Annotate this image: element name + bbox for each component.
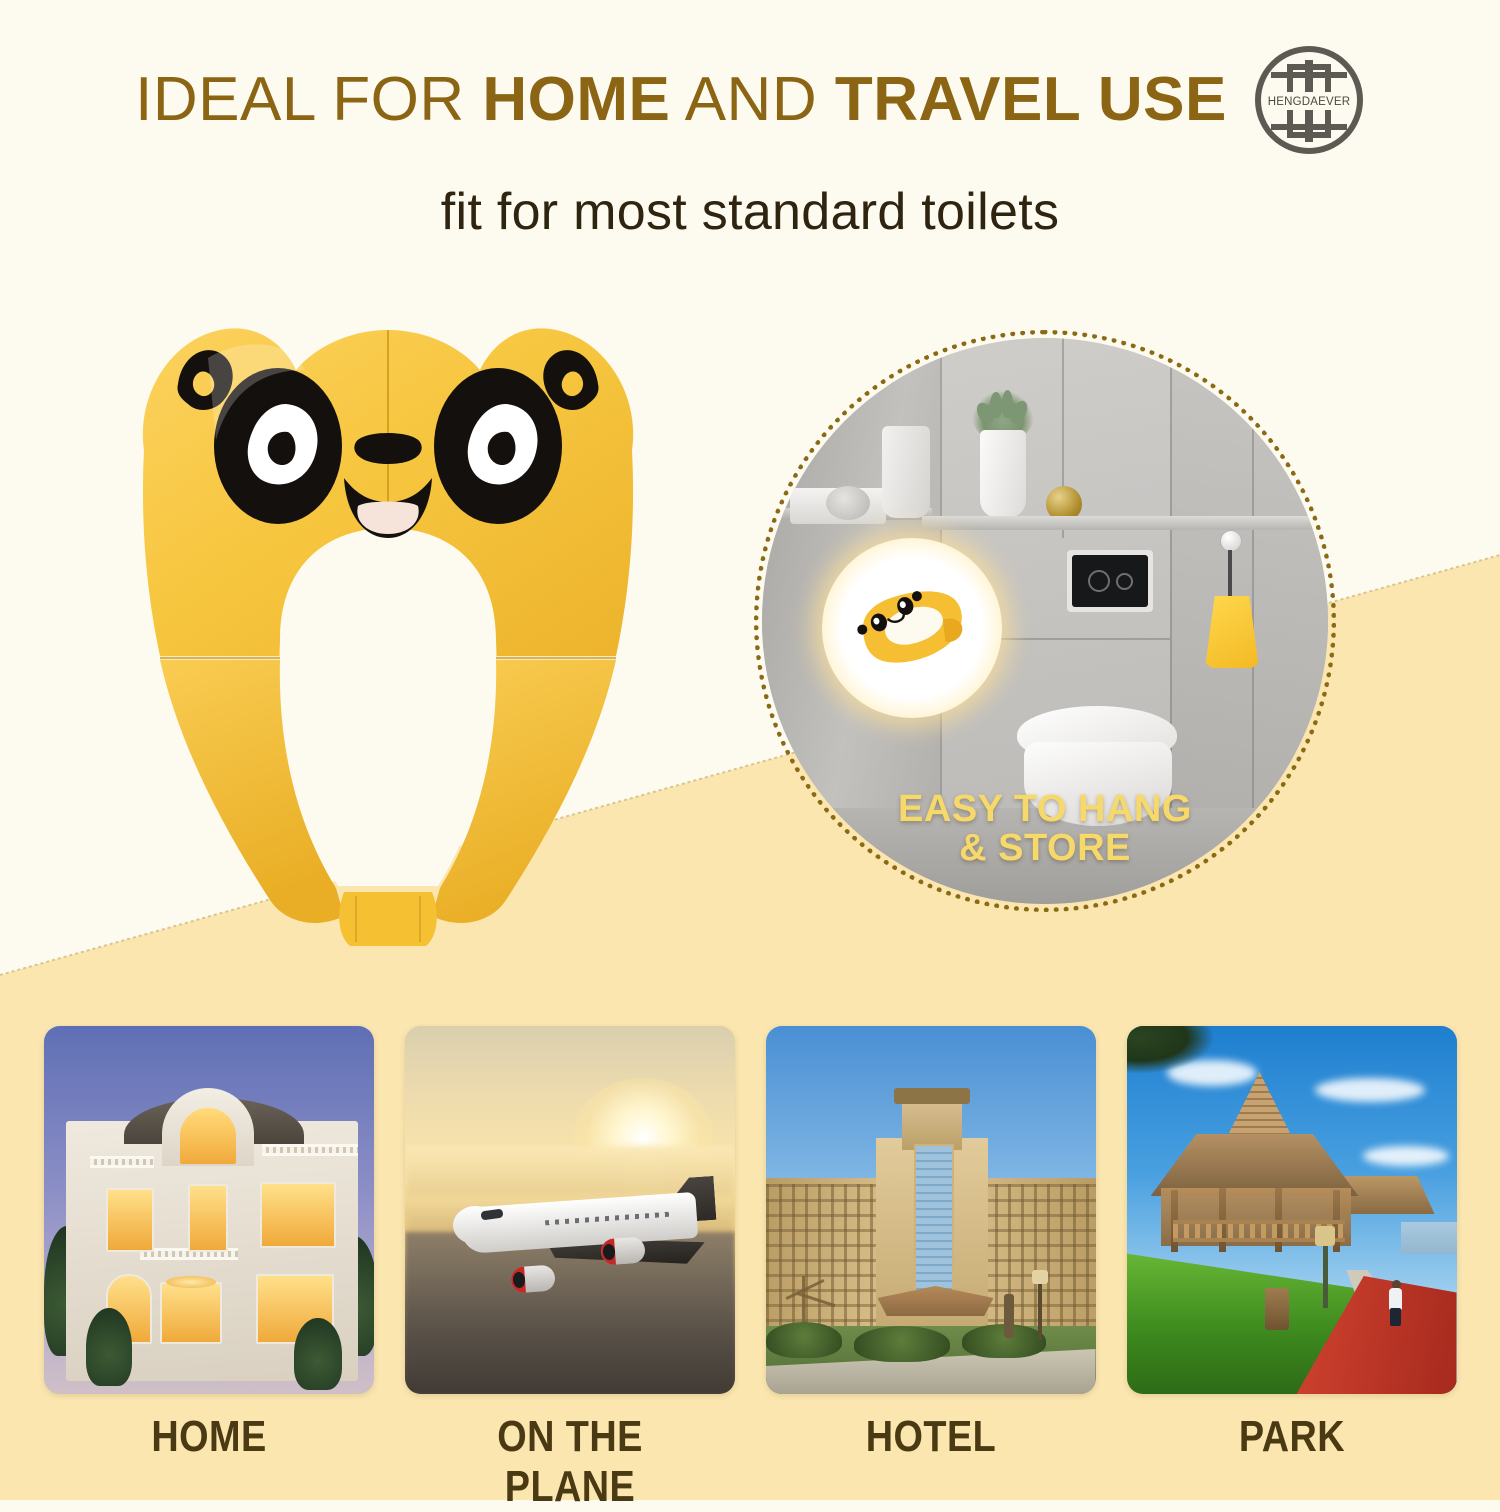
seat-opening	[279, 528, 496, 886]
hotel-roof-tower	[902, 1098, 962, 1150]
bear-eye-right	[434, 368, 562, 524]
scene-thumbnail-hotel[interactable]	[766, 1026, 1096, 1394]
park-lamp-post	[1323, 1238, 1328, 1308]
jogger-body	[1389, 1288, 1402, 1310]
scene-label-row: HOME ON THE PLANE HOTEL PARK	[0, 1412, 1500, 1482]
lamp-head	[1032, 1270, 1048, 1284]
easy-to-hang-callout: EASY TO HANG & STORE	[762, 790, 1328, 868]
bathroom-shelf	[922, 516, 1328, 530]
product-image-folding-seat	[108, 300, 668, 950]
dual-flush-plate	[1067, 550, 1153, 612]
fountain	[1004, 1294, 1014, 1338]
scene-label-home: HOME	[67, 1412, 351, 1482]
arched-window	[180, 1108, 236, 1164]
airplane-engine-right	[600, 1236, 646, 1265]
flush-button-small	[1116, 573, 1133, 590]
distant-buildings	[1401, 1222, 1457, 1254]
page-subtitle: fit for most standard toilets	[0, 182, 1500, 242]
scene-label-park: PARK	[1150, 1412, 1434, 1482]
window	[106, 1188, 154, 1252]
hedge	[854, 1326, 950, 1362]
hotel-glass-atrium	[914, 1144, 954, 1294]
rolled-towel	[826, 486, 870, 520]
bear-nose	[354, 433, 421, 464]
entrance-door	[160, 1282, 222, 1344]
title-segment-travel-use: TRAVEL USE	[835, 65, 1227, 134]
brand-logo: HENGDAEVER	[1253, 44, 1365, 156]
title-segment-home: HOME	[482, 65, 670, 134]
bathroom-scene-inset: EASY TO HANG & STORE	[762, 338, 1328, 904]
balustrade	[90, 1156, 154, 1168]
scene-label-hotel: HOTEL	[789, 1412, 1073, 1482]
scene-label-plane: ON THE PLANE	[428, 1412, 712, 1482]
seat-bottom-bridge	[339, 892, 437, 946]
product-closeup-folded-seat	[848, 585, 976, 671]
jogger-legs	[1390, 1308, 1401, 1326]
title-row: IDEAL FOR HOME AND TRAVEL USE	[0, 0, 1500, 156]
shrub	[86, 1308, 132, 1386]
hook-stem	[1228, 550, 1232, 598]
scene-thumbnail-plane[interactable]	[405, 1026, 735, 1394]
hedge	[766, 1322, 842, 1358]
suction-wall-hook	[1220, 530, 1242, 552]
trash-bin	[1265, 1288, 1289, 1330]
white-vase	[882, 426, 930, 518]
park-lamp-head	[1315, 1226, 1335, 1246]
brand-logo-text: HENGDAEVER	[1268, 96, 1351, 108]
page-title: IDEAL FOR HOME AND TRAVEL USE	[135, 69, 1227, 131]
scene-thumbnail-park[interactable]	[1127, 1026, 1457, 1394]
facade-grid-left	[766, 1184, 880, 1344]
callout-line-1: EASY TO HANG	[762, 790, 1328, 829]
scene-thumbnail-row	[0, 1026, 1500, 1406]
chandelier-glow	[166, 1276, 216, 1288]
product-closeup-glow	[822, 538, 1002, 718]
callout-line-2: & STORE	[762, 829, 1328, 868]
window	[188, 1184, 228, 1252]
window	[260, 1182, 336, 1248]
hotel-tower-roof	[894, 1088, 970, 1104]
lamp-post	[1038, 1278, 1042, 1340]
foreground-tree-branch	[1127, 1026, 1215, 1074]
flush-button-large	[1088, 570, 1110, 592]
airplane-engine-left	[510, 1264, 556, 1293]
cloud	[1315, 1078, 1425, 1102]
plant-pot	[980, 430, 1026, 518]
scene-thumbnail-home[interactable]	[44, 1026, 374, 1394]
cloud	[1363, 1146, 1449, 1166]
balustrade	[262, 1144, 358, 1156]
shrub	[294, 1318, 342, 1390]
title-segment-ideal-for: IDEAL FOR	[135, 65, 482, 134]
header: IDEAL FOR HOME AND TRAVEL USE	[0, 0, 1500, 242]
title-segment-and: AND	[670, 65, 834, 134]
